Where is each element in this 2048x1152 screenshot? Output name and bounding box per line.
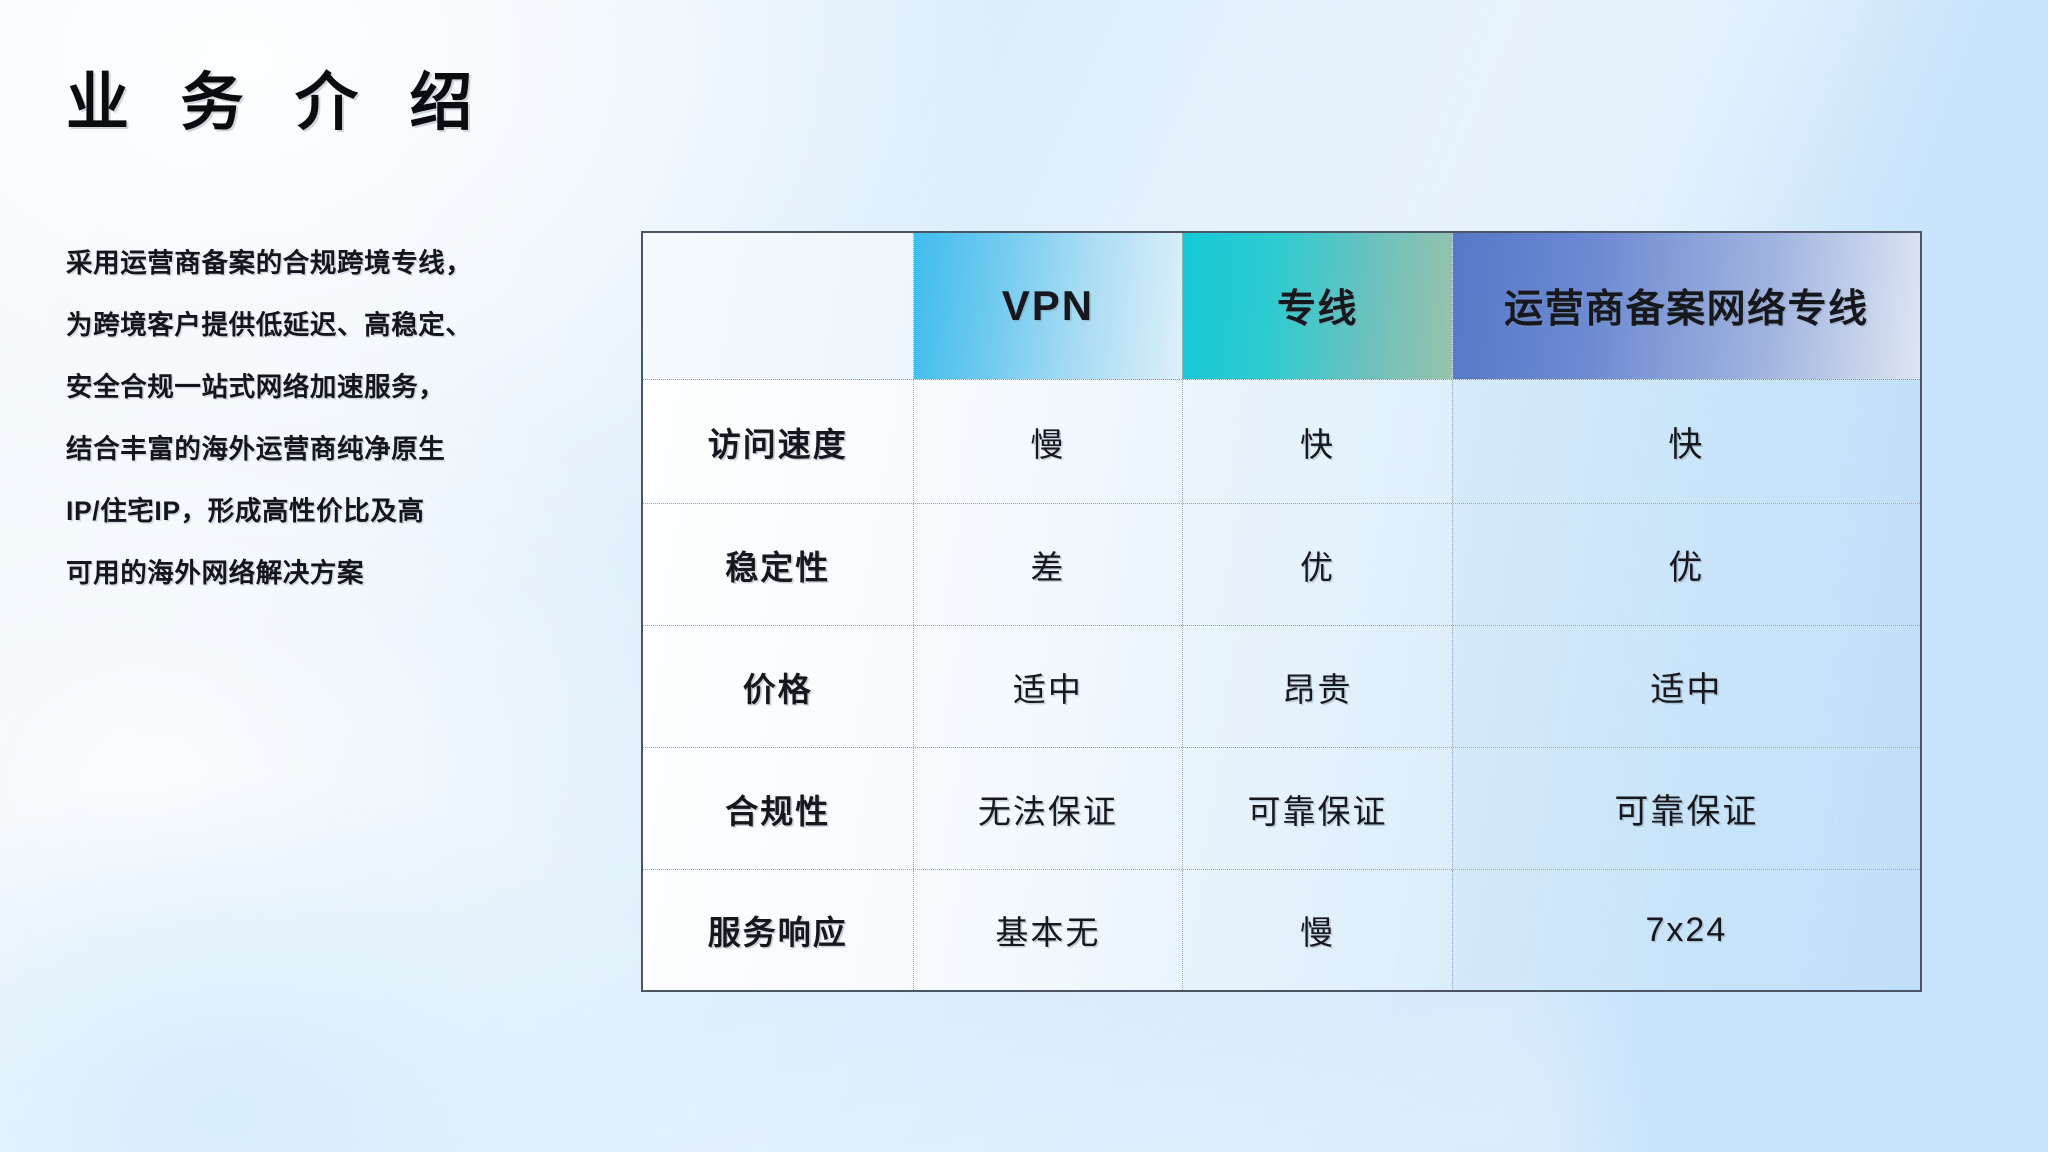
row-value: 适中 <box>913 626 1183 747</box>
row-value: 适中 <box>1452 626 1920 747</box>
description-line: 结合丰富的海外运营商纯净原生 <box>66 418 626 480</box>
description-line: 采用运营商备案的合规跨境专线， <box>66 232 626 294</box>
table-header-dedicated-line: 专线 <box>1182 233 1452 379</box>
row-value: 差 <box>913 504 1183 625</box>
background-corner-bottom-left <box>0 772 720 1152</box>
row-value: 昂贵 <box>1182 626 1452 747</box>
comparison-table: VPN 专线 运营商备案网络专线 访问速度 慢 快 快 稳定性 差 优 优 价格… <box>641 231 1922 992</box>
row-label: 合规性 <box>643 748 913 869</box>
row-label: 服务响应 <box>643 870 913 990</box>
row-value: 慢 <box>913 380 1183 503</box>
description-paragraph: 采用运营商备案的合规跨境专线， 为跨境客户提供低延迟、高稳定、 安全合规一站式网… <box>66 232 626 604</box>
table-row: 访问速度 慢 快 快 <box>643 379 1920 503</box>
row-value: 可靠保证 <box>1182 748 1452 869</box>
row-value: 优 <box>1182 504 1452 625</box>
table-row: 服务响应 基本无 慢 7x24 <box>643 869 1920 990</box>
table-row: 稳定性 差 优 优 <box>643 503 1920 625</box>
description-line: 可用的海外网络解决方案 <box>66 542 626 604</box>
row-label: 稳定性 <box>643 504 913 625</box>
page-title: 业 务 介 绍 <box>66 52 490 143</box>
row-value: 可靠保证 <box>1452 748 1920 869</box>
row-value: 基本无 <box>913 870 1183 990</box>
table-header-carrier-filed-line: 运营商备案网络专线 <box>1452 233 1920 379</box>
row-label: 访问速度 <box>643 380 913 503</box>
table-header-vpn: VPN <box>913 233 1183 379</box>
description-line: 安全合规一站式网络加速服务， <box>66 356 626 418</box>
row-value: 快 <box>1452 380 1920 503</box>
row-value: 7x24 <box>1452 870 1920 990</box>
row-label: 价格 <box>643 626 913 747</box>
table-header-row: VPN 专线 运营商备案网络专线 <box>643 233 1920 379</box>
table-row: 合规性 无法保证 可靠保证 可靠保证 <box>643 747 1920 869</box>
row-value: 慢 <box>1182 870 1452 990</box>
table-header-corner <box>643 233 913 379</box>
table-row: 价格 适中 昂贵 适中 <box>643 625 1920 747</box>
row-value: 优 <box>1452 504 1920 625</box>
description-line: 为跨境客户提供低延迟、高稳定、 <box>66 294 626 356</box>
row-value: 无法保证 <box>913 748 1183 869</box>
description-line: IP/住宅IP，形成高性价比及高 <box>66 480 626 542</box>
row-value: 快 <box>1182 380 1452 503</box>
